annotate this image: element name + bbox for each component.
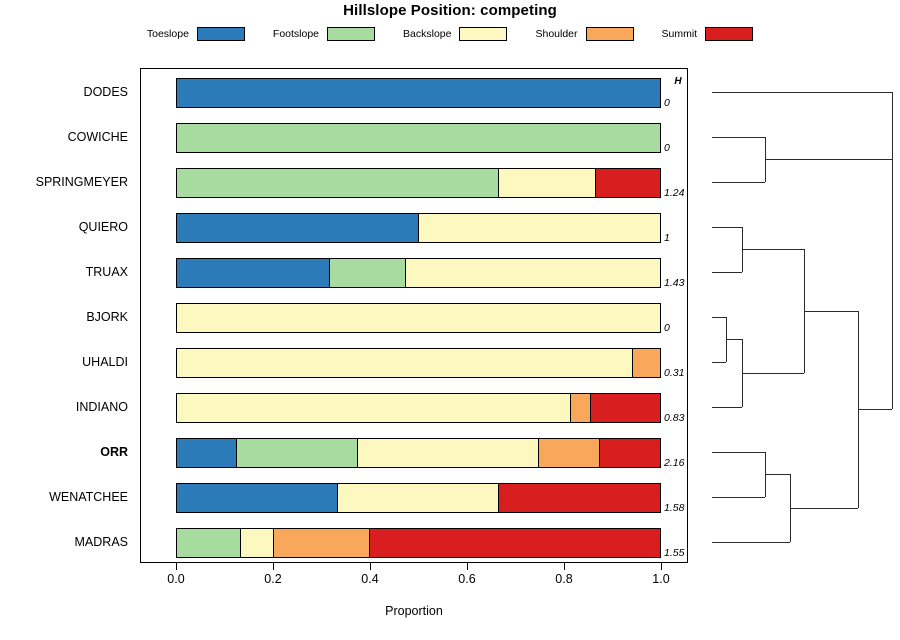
bar-segment-backslope <box>338 484 499 512</box>
bar-quiero <box>176 213 661 243</box>
x-tick <box>467 563 468 570</box>
row-label-column: DODESCOWICHESPRINGMEYERQUIEROTRUAXBJORKU… <box>0 68 134 563</box>
legend-item-toeslope: Toeslope <box>147 27 245 41</box>
dendrogram-leaf-bjork <box>712 317 726 318</box>
bar-segment-footslope <box>177 169 499 197</box>
bar-segment-toeslope <box>177 259 330 287</box>
x-axis-title: Proportion <box>140 604 688 618</box>
legend: ToeslopeFootslopeBackslopeShoulderSummit <box>0 24 900 44</box>
x-tick-label: 1.0 <box>641 572 681 586</box>
bar-segment-backslope <box>177 349 633 377</box>
dendrogram-leaf-quiero <box>712 227 742 228</box>
legend-swatch-footslope <box>327 27 375 41</box>
dendrogram-node-bui-h <box>726 339 742 340</box>
row-label-indiano: INDIANO <box>76 400 128 414</box>
dendrogram-node-big-h1 <box>804 311 858 312</box>
bar-madras <box>176 528 661 558</box>
bar-segment-summit <box>596 169 660 197</box>
bar-indiano <box>176 393 661 423</box>
dendrogram-node-dcs-v <box>892 92 893 160</box>
bar-segment-footslope <box>330 259 406 287</box>
x-tick-label: 0.0 <box>156 572 196 586</box>
dendrogram-leaf-wenatchee <box>712 497 765 498</box>
row-label-springmeyer: SPRINGMEYER <box>36 175 128 189</box>
dendrogram-leaf-madras <box>712 542 790 543</box>
bar-segment-shoulder <box>633 349 660 377</box>
bar-segment-summit <box>591 394 660 422</box>
row-label-truax: TRUAX <box>86 265 128 279</box>
dendrogram-leaf-dodes <box>712 92 892 93</box>
legend-label: Footslope <box>273 28 319 40</box>
bar-truax <box>176 258 661 288</box>
page-title: Hillslope Position: competing <box>0 2 900 19</box>
bar-segment-shoulder <box>539 439 599 467</box>
bar-segment-shoulder <box>571 394 591 422</box>
bar-wenatchee <box>176 483 661 513</box>
row-label-uhaldi: UHALDI <box>82 355 128 369</box>
dendrogram-root <box>892 159 893 409</box>
chart-stage: Hillslope Position: competing ToeslopeFo… <box>0 0 900 640</box>
bar-segment-footslope <box>177 124 660 152</box>
bar-dodes <box>176 78 661 108</box>
bar-cowiche <box>176 123 661 153</box>
x-tick-label: 0.8 <box>544 572 584 586</box>
dendrogram-node-qtbui-h2 <box>742 373 804 374</box>
bar-segment-footslope <box>177 529 241 557</box>
plot-panel <box>140 68 688 563</box>
bar-segment-toeslope <box>177 439 237 467</box>
bar-segment-backslope <box>406 259 660 287</box>
legend-item-shoulder: Shoulder <box>535 27 633 41</box>
row-label-bjork: BJORK <box>86 310 128 324</box>
legend-item-backslope: Backslope <box>403 27 507 41</box>
dendrogram-leaf-springmeyer <box>712 182 765 183</box>
x-tick-label: 0.4 <box>350 572 390 586</box>
x-tick <box>176 563 177 570</box>
row-label-wenatchee: WENATCHEE <box>49 490 128 504</box>
row-label-orr: ORR <box>100 445 128 459</box>
legend-item-summit: Summit <box>662 27 754 41</box>
bar-segment-footslope <box>237 439 358 467</box>
bar-segment-backslope <box>419 214 661 242</box>
x-tick <box>661 563 662 570</box>
bar-segment-summit <box>499 484 660 512</box>
bar-segment-backslope <box>177 304 660 332</box>
bar-uhaldi <box>176 348 661 378</box>
h-column-header: H <box>664 76 692 87</box>
dendrogram-leaf-cowiche <box>712 137 765 138</box>
x-tick-label: 0.6 <box>447 572 487 586</box>
bar-segment-backslope <box>241 529 273 557</box>
bar-segment-summit <box>600 439 660 467</box>
legend-swatch-toeslope <box>197 27 245 41</box>
row-label-quiero: QUIERO <box>79 220 128 234</box>
bar-segment-toeslope <box>177 79 660 107</box>
legend-label: Summit <box>662 28 698 40</box>
dendrogram-leaf-truax <box>712 272 742 273</box>
bar-segment-backslope <box>358 439 539 467</box>
dendrogram-leaf-uhaldi <box>712 362 726 363</box>
x-tick <box>273 563 274 570</box>
stacked-bars <box>141 69 687 562</box>
legend-label: Backslope <box>403 28 451 40</box>
dendrogram-node-big-h2 <box>790 508 858 509</box>
x-tick-label: 0.2 <box>253 572 293 586</box>
dendrogram-node-qtbui-h1 <box>742 249 804 250</box>
row-label-cowiche: COWICHE <box>68 130 128 144</box>
legend-label: Shoulder <box>535 28 577 40</box>
dendrogram-node-owm-h <box>765 474 790 475</box>
legend-label: Toeslope <box>147 28 189 40</box>
x-tick <box>370 563 371 570</box>
dendrogram-leaf-indiano <box>712 407 742 408</box>
row-label-madras: MADRAS <box>75 535 128 549</box>
bar-segment-toeslope <box>177 214 419 242</box>
dendrogram-node-dcs <box>765 159 892 160</box>
bar-segment-shoulder <box>274 529 371 557</box>
row-label-dodes: DODES <box>84 85 128 99</box>
dendrogram <box>700 68 896 563</box>
bar-springmeyer <box>176 168 661 198</box>
bar-orr <box>176 438 661 468</box>
x-axis: 0.00.20.40.60.81.0 <box>140 563 688 603</box>
bar-segment-backslope <box>177 394 571 422</box>
dendrogram-leaf-orr <box>712 452 765 453</box>
legend-swatch-summit <box>705 27 753 41</box>
legend-swatch-backslope <box>459 27 507 41</box>
bar-segment-backslope <box>499 169 596 197</box>
legend-swatch-shoulder <box>586 27 634 41</box>
legend-item-footslope: Footslope <box>273 27 375 41</box>
x-tick <box>564 563 565 570</box>
dendrogram-root-h <box>858 409 892 410</box>
bar-segment-toeslope <box>177 484 338 512</box>
bar-segment-summit <box>370 529 660 557</box>
bar-bjork <box>176 303 661 333</box>
